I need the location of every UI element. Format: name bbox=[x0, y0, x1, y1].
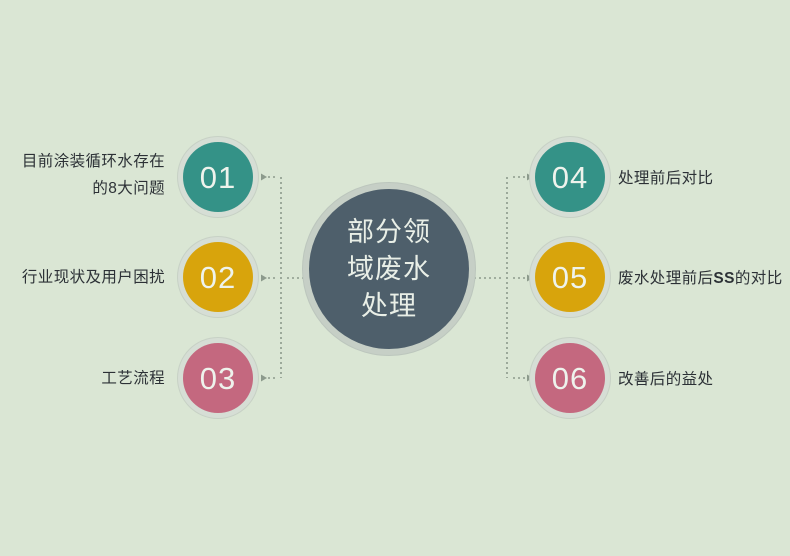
node-circle-02[interactable]: 02 bbox=[183, 242, 253, 312]
node-label-05-emphasis: SS bbox=[713, 270, 734, 287]
node-circle-04[interactable]: 04 bbox=[535, 142, 605, 212]
diagram-canvas: 部分领 域废水 处理 01 02 03 04 05 06 目前涂装循环水存在 的… bbox=[0, 0, 790, 556]
node-label-01-line-2: 的8大问题 bbox=[0, 175, 165, 202]
center-hub-title-line-2: 域废水 bbox=[330, 251, 448, 288]
node-label-01: 目前涂装循环水存在 的8大问题 bbox=[0, 148, 165, 202]
node-circle-01[interactable]: 01 bbox=[183, 142, 253, 212]
node-number-02: 02 bbox=[200, 262, 236, 293]
node-number-03: 03 bbox=[200, 363, 236, 394]
node-number-04: 04 bbox=[552, 162, 588, 193]
center-hub[interactable]: 部分领 域废水 处理 bbox=[309, 189, 469, 349]
node-number-01: 01 bbox=[200, 162, 236, 193]
node-label-06: 改善后的益处 bbox=[618, 366, 790, 393]
node-number-06: 06 bbox=[552, 363, 588, 394]
node-label-01-line-1: 目前涂装循环水存在 bbox=[0, 148, 165, 175]
node-label-05-suffix: 的对比 bbox=[735, 270, 783, 287]
node-label-03: 工艺流程 bbox=[0, 365, 165, 392]
node-number-05: 05 bbox=[552, 262, 588, 293]
center-hub-title-line-1: 部分领 bbox=[330, 214, 448, 251]
node-label-02: 行业现状及用户困扰 bbox=[0, 264, 165, 291]
node-circle-05[interactable]: 05 bbox=[535, 242, 605, 312]
center-hub-title: 部分领 域废水 处理 bbox=[330, 214, 448, 325]
center-hub-title-line-3: 处理 bbox=[330, 288, 448, 325]
node-label-05-prefix: 废水处理前后 bbox=[618, 270, 713, 287]
node-circle-06[interactable]: 06 bbox=[535, 343, 605, 413]
node-circle-03[interactable]: 03 bbox=[183, 343, 253, 413]
node-label-04: 处理前后对比 bbox=[618, 165, 790, 192]
node-label-05: 废水处理前后SS的对比 bbox=[618, 265, 790, 292]
